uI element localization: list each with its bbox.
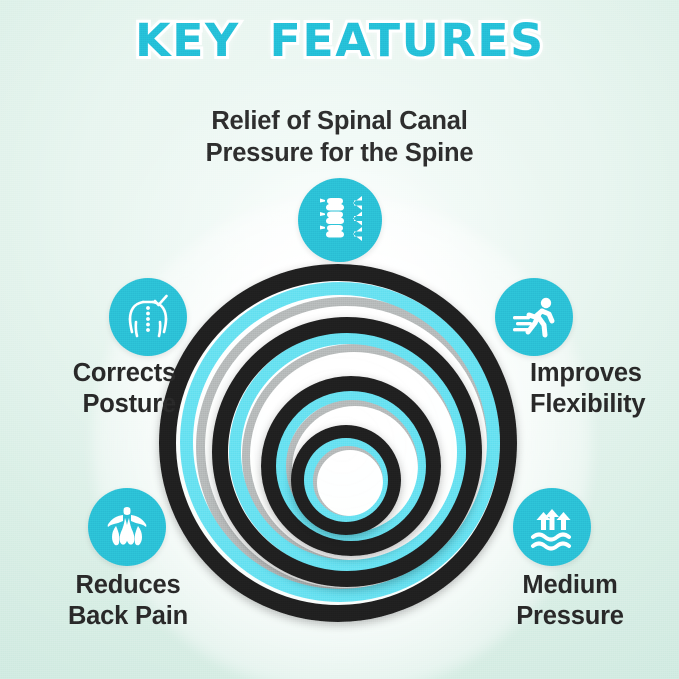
label-line-1: Reduces <box>28 570 228 601</box>
subtitle-line-1: Relief of Spinal Canal <box>0 105 679 137</box>
back-muscles-icon <box>88 488 166 566</box>
label-line-2: Back Pain <box>28 601 228 632</box>
ring-4-black <box>291 425 401 535</box>
posture-spine-check-icon <box>109 278 187 356</box>
infographic-poster: KEY FEATURES Relief of Spinal Canal Pres… <box>0 0 679 679</box>
label-line-2: Flexibility <box>530 389 679 420</box>
label-line-1: Corrects <box>0 358 176 389</box>
title-container: KEY FEATURES <box>0 17 679 65</box>
page-title: KEY FEATURES <box>135 17 545 65</box>
subtitle: Relief of Spinal Canal Pressure for the … <box>0 105 679 169</box>
feature-label-corrects-posture: Corrects Posture <box>0 358 176 421</box>
label-line-2: Pressure <box>470 601 670 632</box>
subtitle-line-2: Pressure for the Spine <box>0 137 679 169</box>
feature-label-medium-pressure: Medium Pressure <box>470 570 670 633</box>
feature-label-reduces-back-pain: Reduces Back Pain <box>28 570 228 633</box>
feature-label-improves-flexibility: Improves Flexibility <box>530 358 679 421</box>
arrows-waves-pressure-icon <box>513 488 591 566</box>
spine-pressure-arrows-icon <box>298 178 382 262</box>
running-person-icon <box>495 278 573 356</box>
label-line-1: Medium <box>470 570 670 601</box>
label-line-2: Posture <box>0 389 176 420</box>
label-line-1: Improves <box>530 358 679 389</box>
